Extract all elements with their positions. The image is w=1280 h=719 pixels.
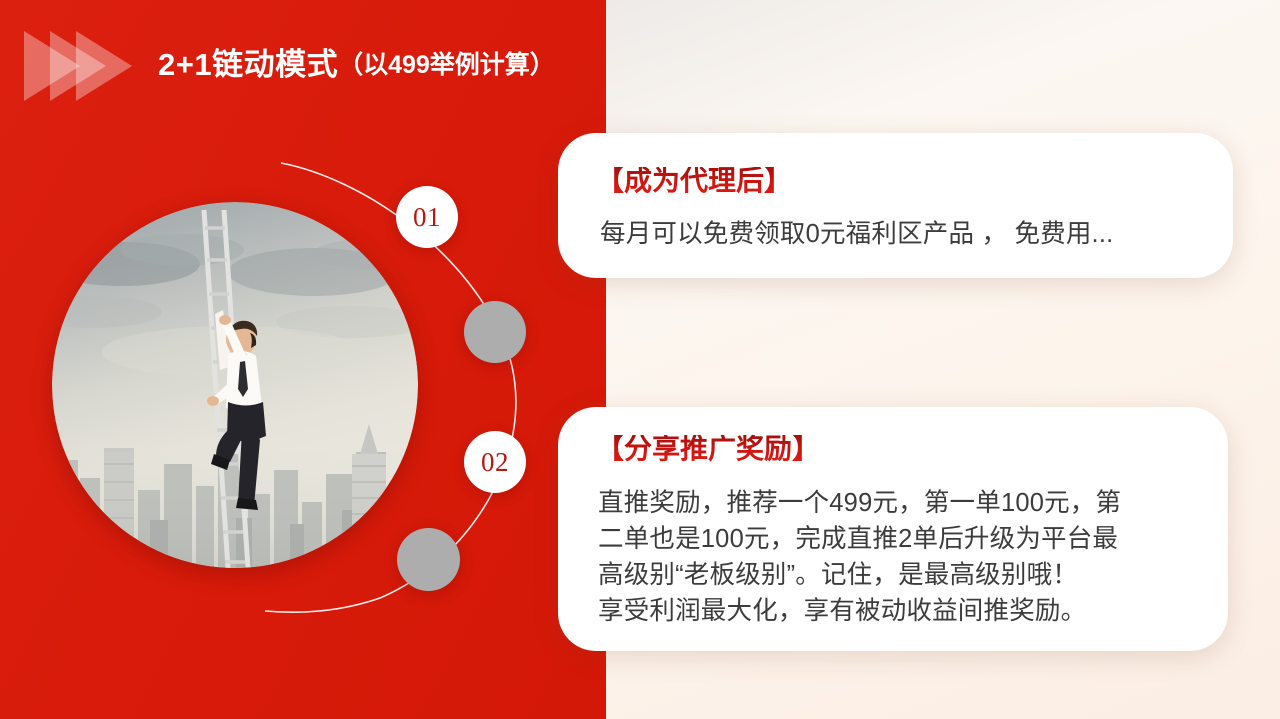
- timeline-dot-1: [464, 301, 526, 363]
- timeline-dot-2: [397, 528, 460, 591]
- triple-chevron-right-icon: [24, 29, 154, 103]
- card-1-body: 每月可以免费领取0元福利区产品 ， 免费用...: [600, 216, 1113, 252]
- page-title-main: 2+1链动模式: [158, 49, 338, 80]
- card-2-body-line-4: 享受利润最大化，享有被动收益间推奖励。: [598, 593, 1198, 629]
- card-2-body-line-1: 直推奖励，推荐一个499元，第一单100元，第: [598, 485, 1198, 521]
- hero-photo-circle: [52, 202, 418, 568]
- page-title-sub: （以499举例计算）: [338, 53, 555, 78]
- card-2-body-line-3: 高级别“老板级别”。记住，是最高级别哦！: [598, 557, 1198, 593]
- step-node-01-label: 01: [413, 204, 441, 231]
- card-2-heading: 【分享推广奖励】: [596, 435, 820, 463]
- slide-root: 2+1链动模式（以499举例计算）: [0, 0, 1280, 719]
- content-card-become-agent[interactable]: 【成为代理后】 每月可以免费领取0元福利区产品 ， 免费用...: [558, 133, 1233, 278]
- step-node-02[interactable]: 02: [464, 431, 526, 493]
- card-2-body: 直推奖励，推荐一个499元，第一单100元，第 二单也是100元，完成直推2单后…: [598, 485, 1198, 629]
- content-card-share-reward[interactable]: 【分享推广奖励】 直推奖励，推荐一个499元，第一单100元，第 二单也是100…: [558, 407, 1228, 651]
- card-2-body-line-2: 二单也是100元，完成直推2单后升级为平台最: [598, 521, 1198, 557]
- step-node-02-label: 02: [481, 449, 509, 476]
- card-1-heading: 【成为代理后】: [596, 167, 792, 195]
- page-title: 2+1链动模式（以499举例计算）: [158, 24, 555, 104]
- slide-header: 2+1链动模式（以499举例计算）: [0, 24, 606, 104]
- step-node-01[interactable]: 01: [396, 186, 458, 248]
